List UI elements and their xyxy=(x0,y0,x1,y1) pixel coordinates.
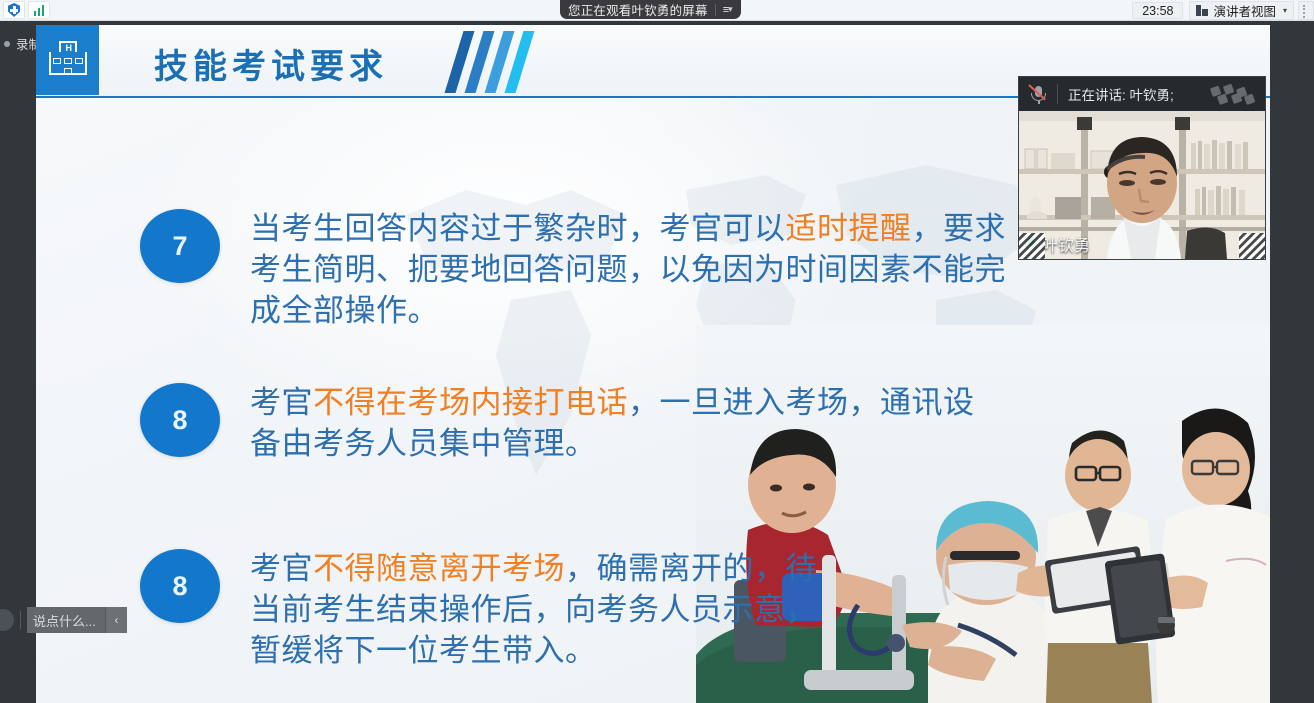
hospital-icon: H xyxy=(49,41,87,75)
avatar[interactable] xyxy=(0,609,14,631)
presenter-view-icon xyxy=(1196,5,1208,16)
screen-share-notice[interactable]: 您正在观看叶钦勇的屏幕 ≡ ▾ xyxy=(560,0,741,19)
hospital-logo-tile: H xyxy=(36,25,99,95)
shield-icon[interactable] xyxy=(3,1,25,19)
bullet-text-highlight: 适时提醒 xyxy=(786,211,912,247)
overflow-handle-icon[interactable] xyxy=(1298,1,1314,20)
clock: 23:58 xyxy=(1132,2,1183,19)
participant-name: 叶钦勇 xyxy=(1042,232,1090,256)
panel-drag-handle-icon[interactable] xyxy=(1209,83,1257,105)
mic-muted-icon[interactable] xyxy=(1027,83,1051,105)
bullet-text: 考官不得随意离开考场，确需离开的，待当前考生结束操作后，向考务人员示意，暂缓将下… xyxy=(250,549,840,673)
bullet-text: 考官不得在考场内接打电话，一旦进入考场，通讯设备由考务人员集中管理。 xyxy=(250,383,990,465)
bullet-number-badge: 8 xyxy=(140,383,220,457)
decorative-slashes-icon xyxy=(446,31,546,93)
resize-handle-left[interactable] xyxy=(1019,233,1045,259)
bullet-text: 当考生回答内容过于繁杂时，考官可以适时提醒，要求考生简明、扼要地回答问题，以免因… xyxy=(250,209,1020,333)
bullet-number-badge: 7 xyxy=(140,209,220,283)
divider xyxy=(715,4,716,16)
divider xyxy=(20,611,21,629)
recording-dot-icon xyxy=(4,41,10,47)
chat-input[interactable]: 说点什么... xyxy=(27,607,105,633)
bullet-text-highlight: 不得在考场内接打电话 xyxy=(313,385,628,421)
bullet-text-part: 考官 xyxy=(250,551,313,587)
speaking-status-label: 正在讲话: 叶钦勇; xyxy=(1068,84,1174,104)
resize-handle-right[interactable] xyxy=(1239,233,1265,259)
slide-title: 技能考试要求 xyxy=(154,39,388,88)
hospital-logo-letter: H xyxy=(66,44,73,52)
bullet-number-badge: 8 xyxy=(140,549,220,623)
chat-bar: 说点什么... ‹ xyxy=(0,605,127,635)
bullet-item: 8 考官不得随意离开考场，确需离开的，待当前考生结束操作后，向考务人员示意，暂缓… xyxy=(140,549,840,673)
chevron-down-icon[interactable]: ▾ xyxy=(728,4,733,15)
os-bar-right-cluster: 23:58 演讲者视图 ▾ xyxy=(1132,0,1314,21)
bullet-text-part: 考官 xyxy=(250,385,313,421)
chevron-down-icon[interactable]: ▾ xyxy=(1283,6,1287,15)
presenter-view-label: 演讲者视图 xyxy=(1213,1,1276,20)
chat-collapse-button[interactable]: ‹ xyxy=(105,607,127,633)
bullet-text-part: 当考生回答内容过于繁杂时，考官可以 xyxy=(250,211,786,247)
divider xyxy=(1057,84,1058,104)
speaker-video-feed[interactable]: 叶钦勇 xyxy=(1019,111,1265,259)
signal-bars-icon[interactable] xyxy=(28,1,50,19)
bullet-item: 7 当考生回答内容过于繁杂时，考官可以适时提醒，要求考生简明、扼要地回答问题，以… xyxy=(140,209,1020,333)
presenter-view-button[interactable]: 演讲者视图 ▾ xyxy=(1189,1,1294,20)
speaker-video-panel[interactable]: 正在讲话: 叶钦勇; xyxy=(1018,76,1266,260)
speaker-status-bar: 正在讲话: 叶钦勇; xyxy=(1019,77,1265,111)
bullet-text-highlight: 不得随意离开考场 xyxy=(313,551,565,587)
screen-share-notice-label: 您正在观看叶钦勇的屏幕 xyxy=(568,0,708,19)
bullet-item: 8 考官不得在考场内接打电话，一旦进入考场，通讯设备由考务人员集中管理。 xyxy=(140,383,990,465)
